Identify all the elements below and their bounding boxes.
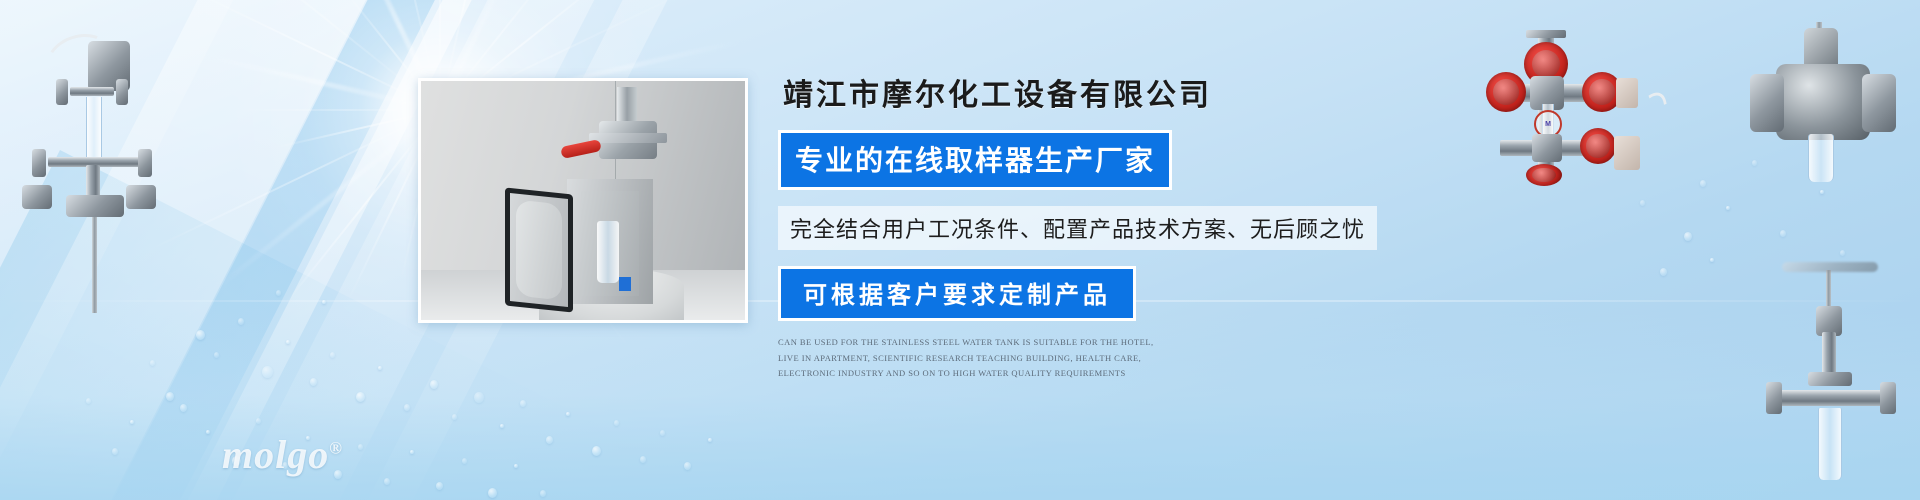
fitting — [1616, 78, 1638, 108]
water-droplet-icon — [196, 330, 205, 340]
water-droplet-icon — [1700, 180, 1706, 187]
flange — [1750, 74, 1784, 132]
water-droplet-icon — [520, 400, 526, 407]
water-droplet-icon — [614, 420, 619, 426]
tagline-secondary: 完全结合用户工况条件、配置产品技术方案、无后顾之忧 — [778, 206, 1377, 250]
watermark-text: molgo — [222, 432, 329, 477]
valve-body — [1532, 134, 1562, 162]
registered-mark-icon: ® — [329, 439, 343, 458]
water-droplet-icon — [404, 404, 410, 411]
product-image-bottom-sampler — [1760, 270, 1905, 485]
water-droplet-icon — [356, 392, 365, 402]
photo-sample-bottle — [597, 221, 619, 283]
banner-text-block: 靖江市摩尔化工设备有限公司 专业的在线取样器生产厂家 完全结合用户工况条件、配置… — [778, 70, 1398, 382]
water-droplet-icon — [430, 380, 438, 389]
flange — [1862, 74, 1896, 132]
sun-ray — [185, 0, 441, 111]
water-droplet-icon — [1640, 200, 1645, 206]
valve-handwheel-icon — [1486, 72, 1526, 112]
probe-rod — [1826, 270, 1831, 310]
flange — [138, 149, 152, 177]
sun-ray — [272, 109, 440, 149]
water-droplet-icon — [330, 352, 335, 358]
valve-body — [22, 185, 52, 209]
product-banner: M 靖江市摩尔化工设备有限公司 专业的在线取样器生产厂家 完全结合用户工况条件、… — [0, 0, 1920, 500]
water-droplet-icon — [592, 446, 601, 456]
water-droplet-icon — [640, 456, 646, 463]
water-droplet-icon — [546, 436, 553, 444]
water-droplet-icon — [436, 482, 443, 490]
glass-sight-tube — [86, 97, 102, 159]
pipe-segment — [70, 87, 114, 96]
probe-rod — [92, 217, 97, 313]
water-droplet-icon — [384, 478, 390, 485]
product-image-left-sampler — [10, 35, 190, 315]
water-droplet-icon — [358, 444, 363, 450]
flange — [1808, 372, 1852, 386]
water-droplet-icon — [166, 392, 174, 401]
water-droplet-icon — [1684, 232, 1692, 241]
watermark-logo: molgo® — [222, 431, 343, 478]
pipe-horizontal — [1776, 390, 1886, 406]
water-droplet-icon — [1726, 206, 1730, 210]
blurred-flange — [1782, 262, 1878, 272]
water-droplet-icon — [214, 352, 219, 358]
flange — [116, 79, 128, 105]
water-droplet-icon — [180, 404, 187, 412]
water-droplet-icon — [256, 418, 261, 424]
flange — [1766, 382, 1782, 414]
water-droplet-icon — [1660, 268, 1667, 276]
company-name: 靖江市摩尔化工设备有限公司 — [783, 70, 1398, 114]
photo-blue-label — [619, 277, 631, 291]
water-droplet-icon — [150, 360, 155, 366]
water-droplet-icon — [684, 462, 691, 470]
valve-body — [1776, 64, 1870, 140]
water-droplet-icon — [1820, 190, 1824, 194]
sun-ray — [200, 53, 441, 113]
tagline-primary-badge: 专业的在线取样器生产厂家 — [778, 130, 1172, 190]
english-description: CAN BE USED FOR THE STAINLESS STEEL WATE… — [778, 335, 1173, 382]
water-droplet-icon — [112, 448, 118, 455]
water-droplet-icon — [1710, 258, 1714, 262]
sun-ray — [189, 0, 440, 111]
photo-door-window — [516, 200, 562, 301]
water-droplet-icon — [1780, 230, 1786, 237]
water-droplet-icon — [276, 290, 281, 296]
sample-vial — [1808, 134, 1834, 182]
flange — [56, 79, 68, 105]
flange — [1880, 382, 1896, 414]
water-droplet-icon — [660, 430, 665, 436]
valve-body — [66, 195, 124, 217]
water-droplet-icon — [1840, 250, 1845, 256]
photo-cabinet-door — [505, 187, 573, 312]
water-droplet-icon — [462, 458, 467, 464]
water-droplet-icon — [488, 488, 497, 498]
water-droplet-icon — [238, 318, 244, 325]
water-droplet-icon — [310, 378, 317, 386]
water-droplet-icon — [86, 398, 91, 404]
valve-handwheel-icon — [1526, 164, 1562, 186]
sun-ray — [231, 109, 440, 111]
water-droplet-icon — [452, 414, 457, 420]
photo-valve-flange — [589, 133, 667, 143]
product-photo-main — [418, 78, 748, 323]
water-droplet-icon — [540, 490, 546, 497]
valve-handwheel-icon — [1580, 128, 1616, 164]
product-image-cross-valve: M — [1490, 28, 1720, 178]
product-image-right-valve — [1740, 28, 1905, 188]
valve-body — [126, 185, 156, 209]
flange — [1526, 30, 1566, 38]
tagline-custom-badge: 可根据客户要求定制产品 — [778, 266, 1136, 321]
flange — [32, 149, 46, 177]
sample-vial — [1818, 408, 1842, 480]
